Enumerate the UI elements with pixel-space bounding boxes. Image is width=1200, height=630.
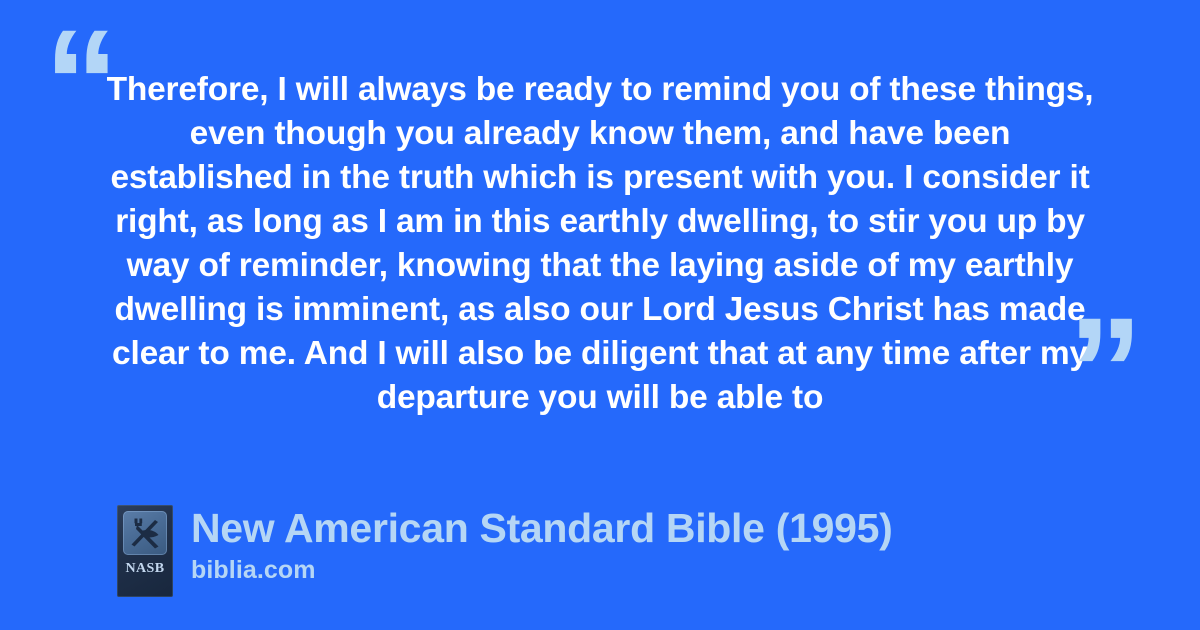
logo-caption: NASB	[117, 561, 173, 577]
closing-quote-mark-icon: ”	[1068, 295, 1141, 445]
source-site-label: biblia.com	[191, 555, 892, 585]
quote-card: “ Therefore, I will always be ready to r…	[0, 0, 1200, 630]
attribution: NASB New American Standard Bible (1995) …	[117, 505, 892, 597]
quote-area: “ Therefore, I will always be ready to r…	[0, 0, 1200, 450]
quote-text: Therefore, I will always be ready to rem…	[104, 68, 1096, 420]
nasb-bible-logo-icon: NASB	[117, 505, 173, 597]
attribution-text-block: New American Standard Bible (1995) bibli…	[191, 505, 892, 585]
logo-cross-sword-icon	[123, 511, 167, 555]
bible-version-title: New American Standard Bible (1995)	[191, 505, 892, 551]
